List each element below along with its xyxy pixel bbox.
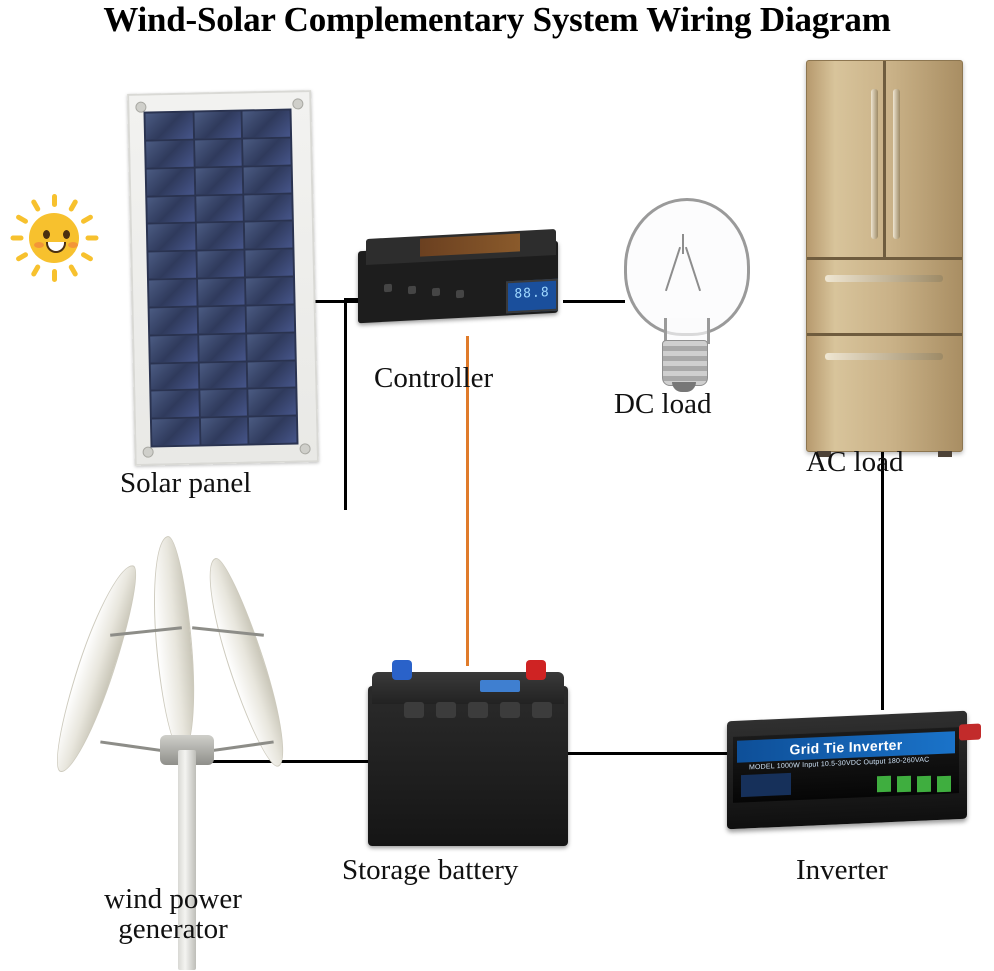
label-wind-generator-line1: wind power [104, 883, 242, 915]
page-title: Wind-Solar Complementary System Wiring D… [0, 0, 994, 40]
wire-inverter-to-ac-load-vertical [881, 446, 884, 710]
label-storage-battery: Storage battery [342, 854, 518, 887]
storage-battery [368, 658, 568, 850]
label-controller: Controller [374, 362, 493, 395]
controller-display: 88.8 [506, 279, 558, 314]
solar-panel-cell-grid [143, 109, 298, 448]
label-solar-panel: Solar panel [120, 467, 251, 500]
wiring-diagram-canvas: Wind-Solar Complementary System Wiring D… [0, 0, 994, 971]
wire-battery-to-inverter [566, 752, 738, 755]
label-wind-generator: wind power generator [56, 884, 290, 945]
solar-panel [127, 90, 319, 466]
grid-tie-inverter: Grid Tie Inverter MODEL 1000W Input 10.5… [727, 706, 981, 836]
label-inverter: Inverter [796, 854, 888, 887]
sun-icon [8, 192, 100, 284]
label-dc-load: DC load [614, 388, 711, 421]
label-wind-generator-line2: generator [118, 913, 228, 945]
label-ac-load: AC load [806, 446, 903, 479]
wire-solar-to-controller-vertical [344, 300, 347, 510]
light-bulb-dc-load [610, 198, 760, 398]
charge-controller: 88.8 [358, 228, 566, 336]
refrigerator-ac-load [806, 60, 963, 452]
